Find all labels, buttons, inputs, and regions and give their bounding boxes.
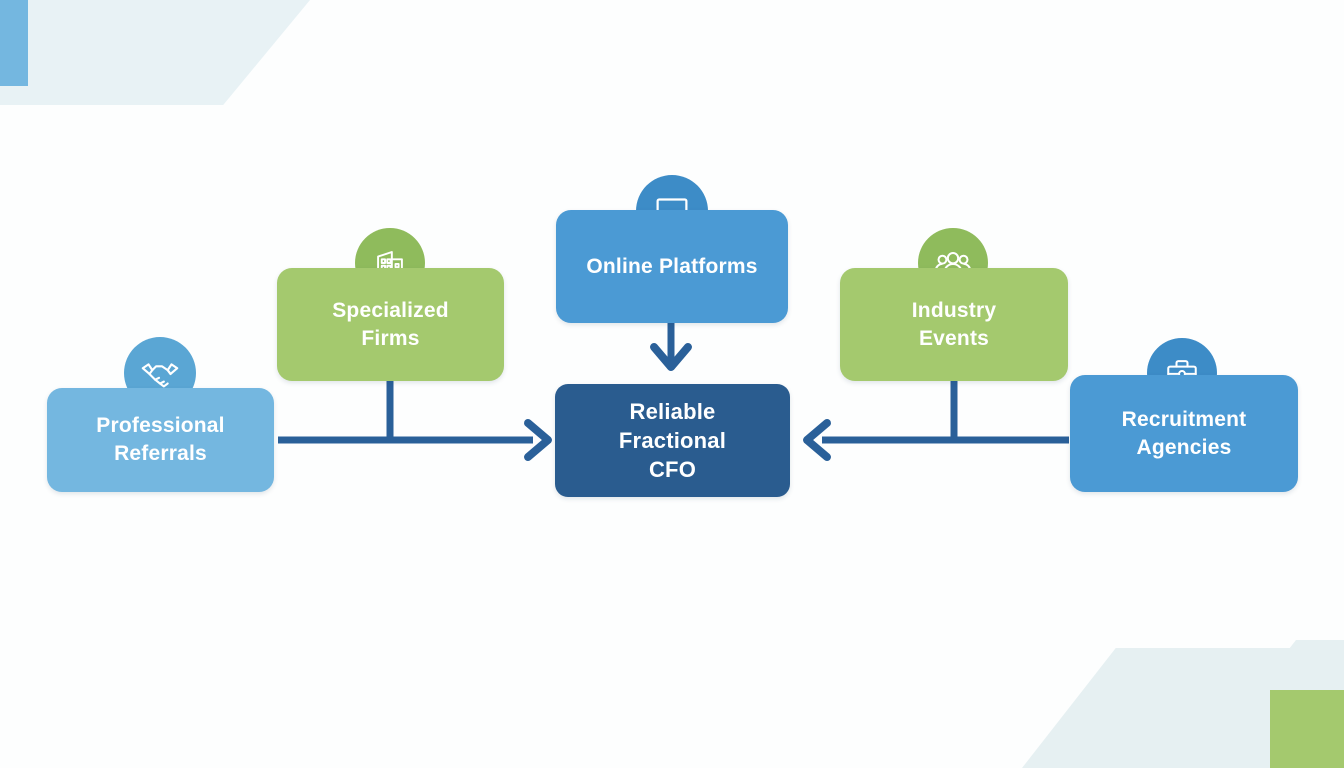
node-reliable-fractional-cfo[interactable]: ReliableFractionalCFO bbox=[555, 384, 790, 497]
node-recruitment-agencies[interactable]: RecruitmentAgencies bbox=[1070, 375, 1298, 492]
node-specialized-firms-label: SpecializedFirms bbox=[322, 297, 459, 352]
node-industry-events-label: IndustryEvents bbox=[902, 297, 1006, 352]
node-professional-referrals[interactable]: ProfessionalReferrals bbox=[47, 388, 274, 492]
node-industry-events[interactable]: IndustryEvents bbox=[840, 268, 1068, 381]
node-recruitment-agencies-label: RecruitmentAgencies bbox=[1112, 406, 1257, 461]
node-online-platforms[interactable]: Online Platforms bbox=[556, 210, 788, 323]
node-reliable-fractional-cfo-label: ReliableFractionalCFO bbox=[609, 397, 736, 484]
diagram-canvas: ProfessionalReferrals SpecializedFirms O… bbox=[0, 0, 1344, 768]
node-online-platforms-label: Online Platforms bbox=[576, 253, 767, 281]
node-professional-referrals-label: ProfessionalReferrals bbox=[86, 412, 234, 467]
node-specialized-firms[interactable]: SpecializedFirms bbox=[277, 268, 504, 381]
